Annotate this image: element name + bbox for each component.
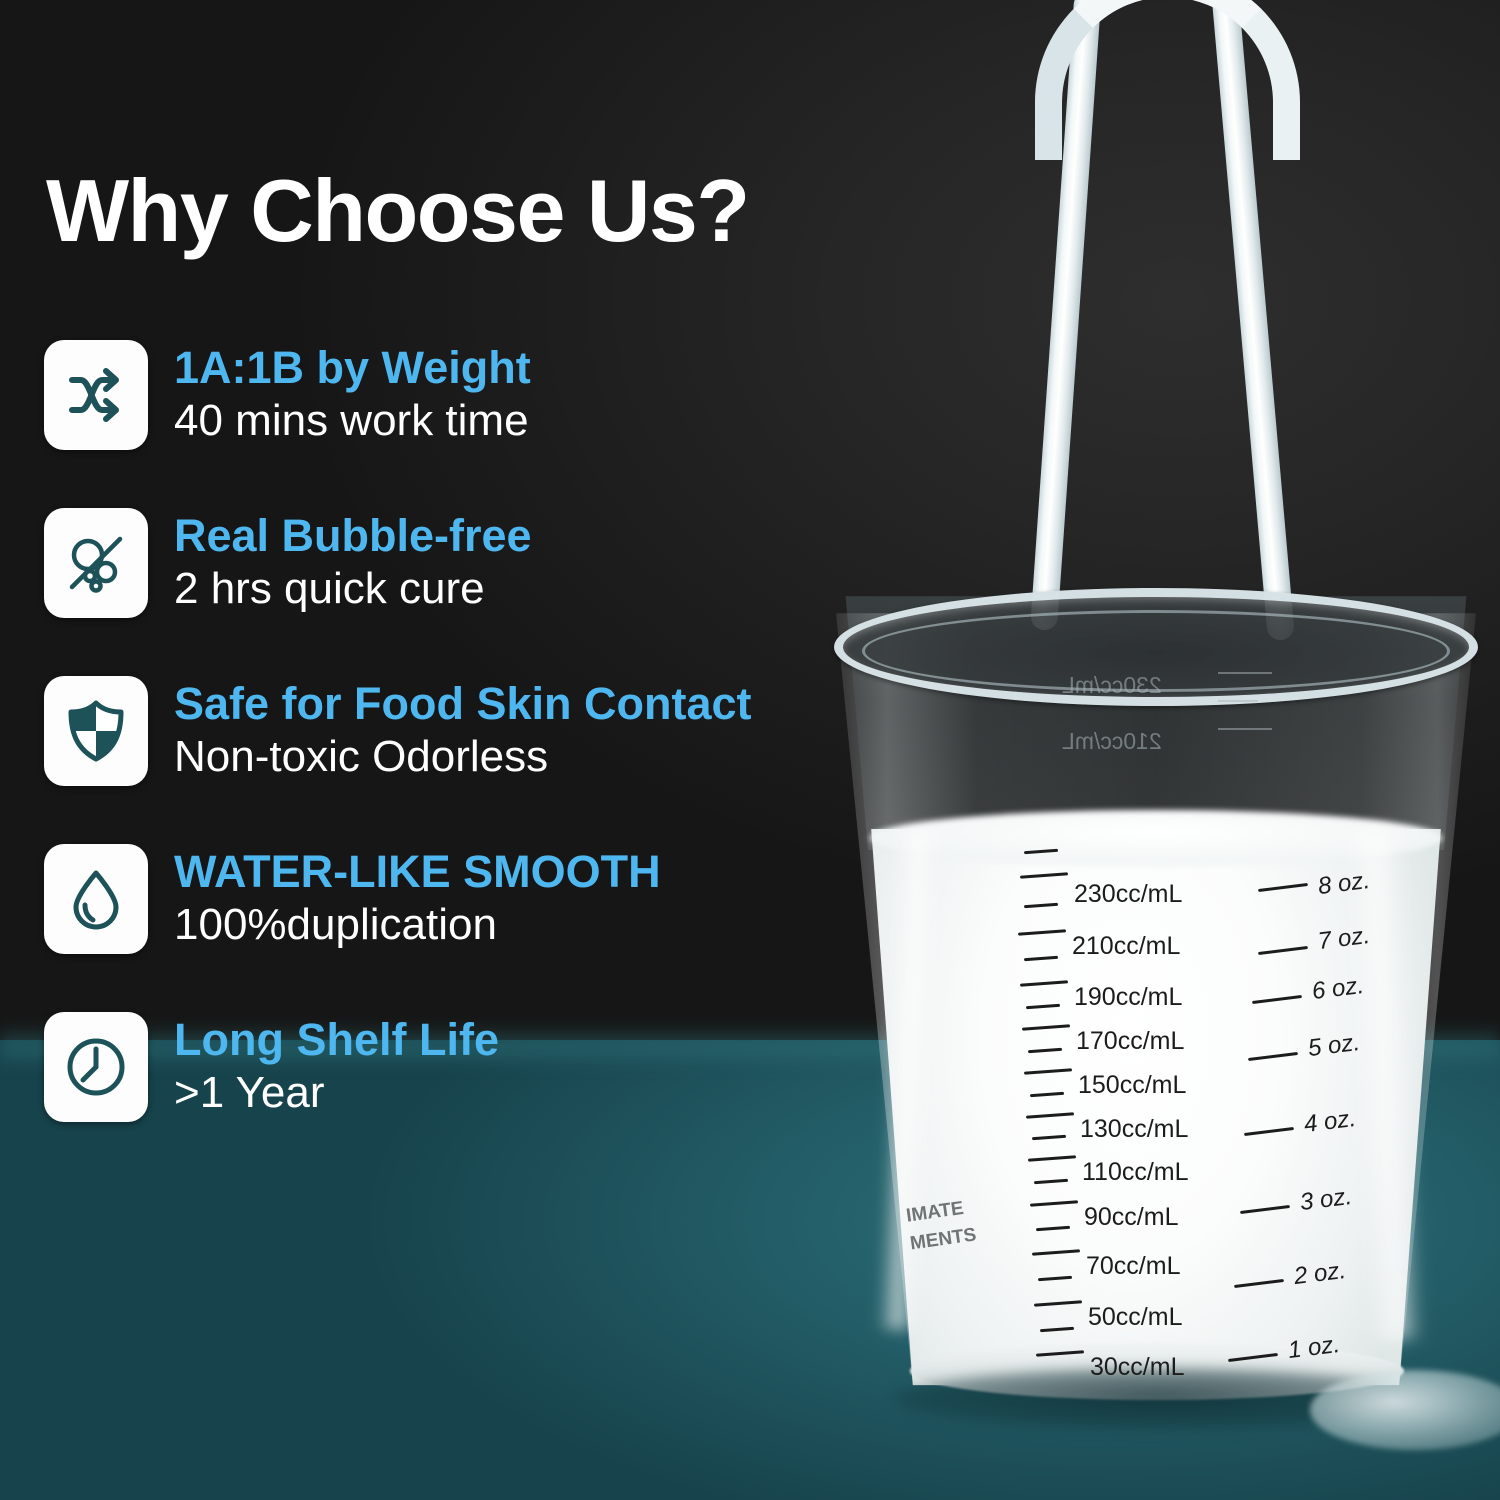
grad-label-110: 110cc/mL	[1082, 1158, 1189, 1187]
feature-list: 1A:1B by Weight 40 mins work time R	[44, 340, 874, 1180]
feature-item-food-safe: Safe for Food Skin Contact Non-toxic Odo…	[44, 676, 874, 844]
grad-label-90: 90cc/mL	[1084, 1203, 1178, 1232]
feature-item-water-like: WATER-LIKE SMOOTH 100%duplication	[44, 844, 874, 1012]
feature-subtitle: 40 mins work time	[174, 395, 531, 446]
feature-title: 1A:1B by Weight	[174, 342, 531, 393]
grad-label-150: 150cc/mL	[1078, 1071, 1186, 1100]
feature-subtitle: 2 hrs quick cure	[174, 563, 532, 614]
grad-label-170: 170cc/mL	[1076, 1027, 1184, 1056]
grad-label-190: 190cc/mL	[1074, 983, 1182, 1012]
feature-subtitle: >1 Year	[174, 1067, 499, 1118]
icon-tile	[44, 676, 148, 786]
feature-item-shelf-life: Long Shelf Life >1 Year	[44, 1012, 874, 1180]
brandmark: IMATE MENTS	[904, 1194, 978, 1258]
feature-subtitle: Non-toxic Odorless	[174, 731, 752, 782]
grad-label-30: 30cc/mL	[1090, 1353, 1184, 1382]
feature-text: WATER-LIKE SMOOTH 100%duplication	[148, 844, 661, 950]
icon-tile	[44, 508, 148, 618]
no-bubbles-icon	[64, 531, 128, 595]
resin-stream-arch-highlight	[1035, 0, 1300, 160]
shield-icon	[64, 699, 128, 763]
feature-item-bubble-free: Real Bubble-free 2 hrs quick cure	[44, 508, 874, 676]
grad-label-130: 130cc/mL	[1080, 1115, 1188, 1144]
feature-title: Long Shelf Life	[174, 1014, 499, 1065]
feature-title: WATER-LIKE SMOOTH	[174, 846, 661, 897]
ghost-tick	[1218, 728, 1272, 730]
icon-tile	[44, 1012, 148, 1122]
feature-subtitle: 100%duplication	[174, 899, 661, 950]
feature-text: Safe for Food Skin Contact Non-toxic Odo…	[148, 676, 752, 782]
feature-text: Real Bubble-free 2 hrs quick cure	[148, 508, 532, 614]
feature-title: Safe for Food Skin Contact	[174, 678, 752, 729]
product-infographic: 230cc/mL 210cc/mL IMATE MENTS 230cc/mL 2…	[0, 0, 1500, 1500]
water-droplet-icon	[64, 867, 128, 931]
grad-label-230: 230cc/mL	[1074, 880, 1182, 909]
grad-label-210: 210cc/mL	[1072, 932, 1180, 961]
ghost-tick	[1218, 700, 1258, 702]
icon-tile	[44, 340, 148, 450]
shuffle-arrows-icon	[64, 363, 128, 427]
grad-label-50: 50cc/mL	[1088, 1303, 1182, 1332]
feature-title: Real Bubble-free	[174, 510, 532, 561]
page-title: Why Choose Us?	[46, 167, 749, 255]
grad-label-70: 70cc/mL	[1086, 1252, 1180, 1281]
icon-tile	[44, 844, 148, 954]
feature-text: Long Shelf Life >1 Year	[148, 1012, 499, 1118]
ghost-tick	[1218, 672, 1272, 674]
clock-icon	[64, 1035, 128, 1099]
feature-item-mix-ratio: 1A:1B by Weight 40 mins work time	[44, 340, 874, 508]
ghost-marking-210: 210cc/mL	[1062, 728, 1162, 755]
resin-puddle	[1310, 1370, 1500, 1450]
feature-text: 1A:1B by Weight 40 mins work time	[148, 340, 531, 446]
ghost-marking-230: 230cc/mL	[1062, 672, 1162, 699]
